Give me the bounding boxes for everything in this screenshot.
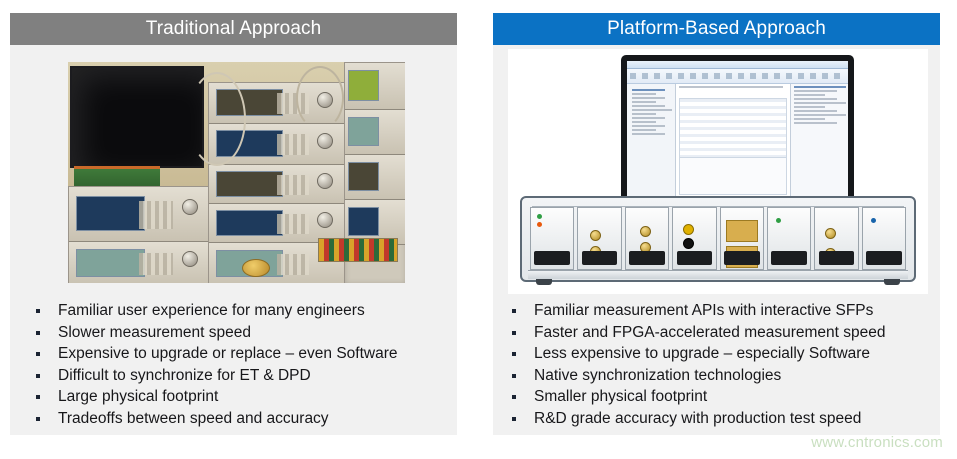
analyzer-keypad [139, 201, 173, 229]
analyzer-knob [182, 199, 198, 215]
bullet-text: Large physical footprint [58, 388, 218, 405]
tree-node [632, 93, 656, 95]
pxi-module-controller [530, 207, 574, 270]
bullet-square-icon [36, 352, 40, 356]
module-connector [866, 251, 902, 265]
properties-header [794, 86, 847, 88]
pxi-module-8 [862, 207, 906, 270]
instrument-knob [182, 251, 198, 267]
rack-keypad-2 [277, 134, 309, 155]
bullet-text: Native synchronization technologies [534, 367, 781, 384]
list-item: Smaller physical footprint [510, 386, 930, 408]
list-item: Difficult to synchronize for ET & DPD [34, 365, 447, 387]
grid-header-row [679, 86, 784, 88]
monitor-screen [627, 61, 848, 197]
properties-row [794, 118, 826, 120]
comparison-slide: Traditional Approach [0, 0, 957, 459]
tree-node [632, 129, 656, 131]
bullet-text: Familiar user experience for many engine… [58, 302, 365, 319]
desktop-monitor [621, 55, 854, 209]
app-sequence-grid [676, 84, 790, 197]
pxi-module-6 [767, 207, 811, 270]
bullet-square-icon [36, 395, 40, 399]
bullet-list-platform-based: Familiar measurement APIs with interacti… [510, 300, 930, 429]
pxi-module-3 [625, 207, 669, 270]
module-connector [771, 251, 807, 265]
bullet-list-traditional: Familiar user experience for many engine… [34, 300, 447, 429]
media-area-platform-based [493, 45, 940, 297]
pxi-module-rf-front-end [720, 207, 764, 270]
far-instrument-1 [345, 63, 405, 110]
list-item: Slower measurement speed [34, 322, 447, 344]
status-led [537, 222, 542, 227]
far-instrument-3 [345, 155, 405, 200]
pxi-module-7 [814, 207, 858, 270]
bullet-square-icon [36, 417, 40, 421]
module-connector [582, 251, 618, 265]
column-platform-based: Platform-Based Approach [493, 13, 940, 435]
rack-keypad-3 [277, 175, 309, 195]
bullet-square-icon [512, 417, 516, 421]
bullet-text: Faster and FPGA-accelerated measurement … [534, 324, 886, 341]
bullet-square-icon [36, 309, 40, 313]
rack-keypad-5 [277, 254, 309, 275]
platform-pxi-photo [508, 49, 928, 294]
rack-knob-4 [317, 212, 333, 228]
pxi-module-4 [672, 207, 716, 270]
module-connector [629, 251, 665, 265]
properties-row [794, 102, 847, 104]
far-display-1 [348, 70, 379, 101]
bullet-text: Difficult to synchronize for ET & DPD [58, 367, 311, 384]
bullet-square-icon [512, 331, 516, 335]
chassis-foot-left [536, 279, 552, 285]
column-body-traditional: Familiar user experience for many engine… [10, 45, 457, 435]
app-project-tree [627, 84, 676, 197]
bullet-text: Expensive to upgrade or replace – even S… [58, 345, 398, 362]
instrument-spectrum-analyzer [69, 187, 209, 242]
list-item: Faster and FPGA-accelerated measurement … [510, 322, 930, 344]
traditional-bench-photo [68, 62, 405, 283]
rack-keypad-4 [277, 214, 309, 234]
module-connector [819, 251, 855, 265]
properties-row [794, 90, 837, 92]
column-body-platform-based: Familiar measurement APIs with interacti… [493, 45, 940, 435]
patch-connector-block [318, 238, 398, 262]
bullet-text: Smaller physical footprint [534, 388, 707, 405]
media-area-traditional [10, 45, 457, 297]
banana-jack [683, 238, 694, 249]
list-item: R&D grade accuracy with production test … [510, 408, 930, 430]
instrument-keypad [139, 253, 173, 275]
bullet-square-icon [512, 352, 516, 356]
module-connector [724, 251, 760, 265]
coax-cable-loop-2 [296, 66, 344, 130]
chassis-foot-right [884, 279, 900, 285]
far-display-2 [348, 117, 379, 146]
chassis-top-label-strip [532, 200, 904, 207]
rack-stack-left [68, 186, 210, 283]
status-led [871, 218, 876, 223]
tree-node [632, 97, 665, 99]
sma-connector [640, 226, 651, 237]
tree-node [632, 101, 656, 103]
tree-node [632, 121, 656, 123]
module-connector [677, 251, 713, 265]
list-item: Native synchronization technologies [510, 365, 930, 387]
far-display-4 [348, 207, 379, 236]
tree-node [632, 133, 665, 135]
pxi-chassis [520, 196, 916, 282]
rack-knob-2 [317, 133, 333, 149]
status-led [537, 214, 542, 219]
list-item: Tradeoffs between speed and accuracy [34, 408, 447, 430]
tree-node [632, 125, 665, 127]
tree-node [632, 109, 672, 111]
banana-jack [683, 224, 694, 235]
list-item: Large physical footprint [34, 386, 447, 408]
properties-row [794, 94, 826, 96]
site-watermark: www.cntronics.com [811, 434, 943, 451]
bullet-square-icon [36, 374, 40, 378]
list-item: Less expensive to upgrade – especially S… [510, 343, 930, 365]
far-instrument-2 [345, 110, 405, 155]
bullet-square-icon [512, 374, 516, 378]
bullet-square-icon [512, 309, 516, 313]
coax-cable-loop-1 [188, 72, 246, 166]
sma-connector [590, 230, 601, 241]
pxi-module-2 [577, 207, 621, 270]
column-traditional: Traditional Approach [10, 13, 457, 435]
gold-coil-on-bench [242, 259, 270, 277]
column-header-traditional: Traditional Approach [10, 13, 457, 45]
app-properties-panel [790, 84, 848, 197]
sma-connector [825, 228, 836, 239]
gold-connector-panel [726, 220, 758, 242]
bench-monitor [70, 66, 204, 168]
tree-node [632, 117, 665, 119]
bullet-text: Tradeoffs between speed and accuracy [58, 410, 329, 427]
pxi-slot-row [530, 207, 906, 270]
status-led [776, 218, 781, 223]
list-item: Expensive to upgrade or replace – even S… [34, 343, 447, 365]
bullet-square-icon [36, 331, 40, 335]
rack-knob-3 [317, 173, 333, 189]
app-body [627, 84, 848, 197]
bullet-text: Slower measurement speed [58, 324, 251, 341]
bullet-text: R&D grade accuracy with production test … [534, 410, 861, 427]
rack-display-4 [216, 210, 283, 236]
instrument-lcd-display [76, 249, 145, 277]
app-ribbon-toolbar [627, 69, 848, 84]
tree-node [632, 89, 665, 91]
app-details-panel [679, 157, 787, 195]
far-display-3 [348, 162, 379, 191]
rack-instrument-3 [209, 165, 344, 204]
tree-node [632, 105, 665, 107]
rack-display-3 [216, 171, 283, 197]
properties-row [794, 122, 837, 124]
app-titlebar [627, 61, 848, 69]
properties-row [794, 98, 837, 100]
chassis-bottom-strip [528, 270, 908, 279]
column-header-platform-based: Platform-Based Approach [493, 13, 940, 45]
instrument-lower-left [69, 242, 209, 283]
tree-node [632, 113, 656, 115]
properties-row [794, 106, 826, 108]
bullet-text: Less expensive to upgrade – especially S… [534, 345, 870, 362]
properties-row [794, 114, 847, 116]
analyzer-display [76, 196, 145, 231]
properties-row [794, 110, 837, 112]
module-connector [534, 251, 570, 265]
bullet-text: Familiar measurement APIs with interacti… [534, 302, 873, 319]
bullet-square-icon [512, 395, 516, 399]
list-item: Familiar user experience for many engine… [34, 300, 447, 322]
list-item: Familiar measurement APIs with interacti… [510, 300, 930, 322]
